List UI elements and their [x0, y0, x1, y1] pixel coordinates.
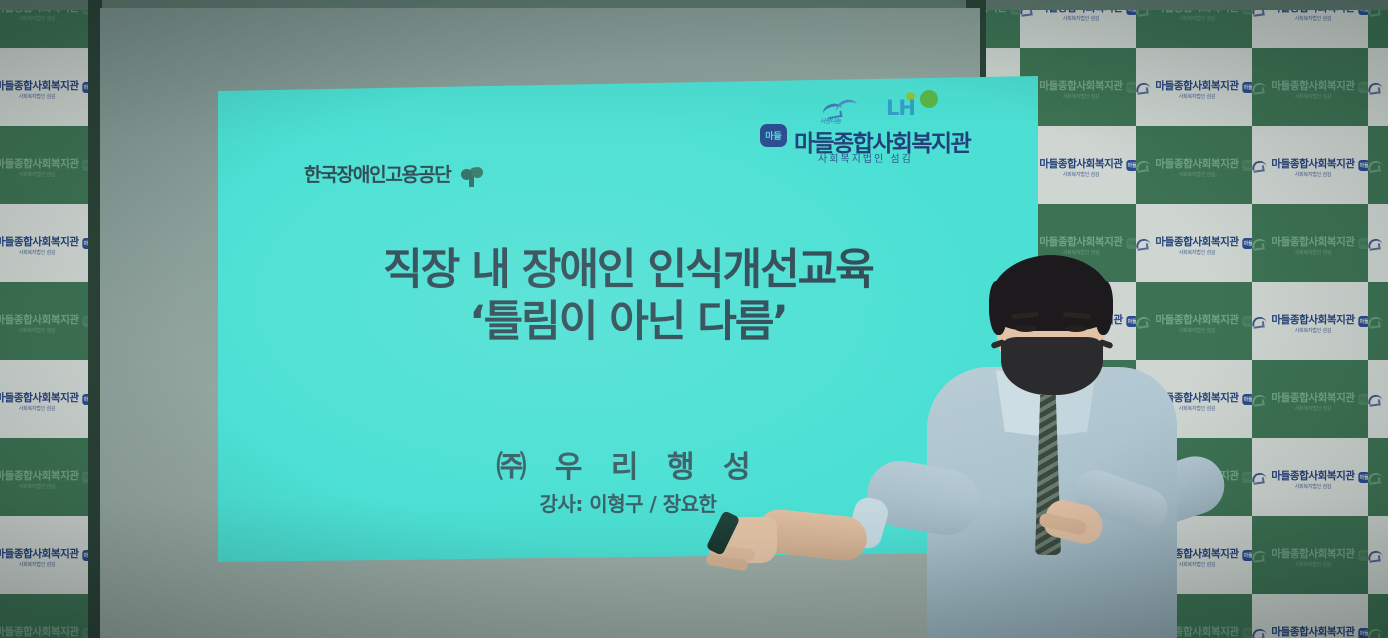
backdrop-tile-logo: 마들종합사회복지관사회복지법인 섬김마들: [1252, 542, 1368, 568]
backdrop-tile-seal: 마들: [1243, 550, 1252, 561]
eye-left: [1015, 325, 1037, 332]
backdrop-tile-sub: 사회복지법인 섬김: [1039, 173, 1122, 178]
backdrop-tile-name: 마들종합사회복지관: [1271, 314, 1354, 326]
backdrop-tile-logo: 마들종합사회복지관사회복지법인 섬김마들: [1252, 152, 1368, 178]
backdrop-tile-logo: 마들종합사회복지관사회복지법인 섬김마들: [1252, 74, 1368, 100]
presenter: [905, 255, 1235, 638]
backdrop-tile: 마들종합사회복지관사회복지법인 섬김마들: [0, 438, 92, 516]
backdrop-tile-logo: 마들종합사회복지관사회복지법인 섬김마들: [1252, 386, 1368, 412]
backdrop-tile-logo: 마들종합사회복지관사회복지법인 섬김마들: [1368, 542, 1388, 568]
backdrop-tile-seal: 마들: [1359, 550, 1368, 561]
backdrop-tile-sub: 사회복지법인 섬김: [1039, 17, 1122, 22]
backdrop-tile-logo: 마들종합사회복지관사회복지법인 섬김마들: [1368, 230, 1388, 256]
backdrop-tile: 마들종합사회복지관사회복지법인 섬김마들: [1368, 204, 1388, 282]
backdrop-tile-logo: 마들종합사회복지관사회복지법인 섬김마들: [1252, 464, 1368, 490]
backdrop-tile-name: 마들종합사회복지관: [1271, 626, 1354, 638]
backdrop-tile-sub: 사회복지법인 섬김: [1155, 173, 1238, 178]
backdrop-tile-logo: 마들종합사회복지관사회복지법인 섬김마들: [1136, 152, 1252, 178]
backdrop-tile-name: 마들종합사회복지관: [0, 548, 79, 560]
backdrop-tile-sub: 사회복지법인 섬김: [1039, 95, 1122, 100]
backdrop-tile-sub: 사회복지법인 섬김: [1271, 17, 1354, 22]
backdrop-tile-name: 마들종합사회복지관: [1155, 80, 1238, 92]
backdrop-tile-sub: 사회복지법인 섬김: [0, 563, 79, 568]
backdrop-tile-sub: 사회복지법인 섬김: [1271, 173, 1354, 178]
backdrop-tile: 마들종합사회복지관사회복지법인 섬김마들: [1252, 126, 1368, 204]
backdrop-tile-name: 마들종합사회복지관: [1271, 158, 1354, 170]
sarang-nanum-icon: 사랑나눔: [818, 96, 866, 122]
backdrop-tile-seal: 마들: [1243, 628, 1252, 638]
backdrop-tile-logo: 마들종합사회복지관사회복지법인 섬김마들: [0, 386, 92, 412]
backdrop-tile-name: 마들종합사회복지관: [0, 80, 79, 92]
backdrop-tile-seal: 마들: [1243, 238, 1252, 249]
backdrop-tile-sub: 사회복지법인 섬김: [0, 17, 79, 22]
backdrop-tile-name: 마들종합사회복지관: [1155, 158, 1238, 170]
madeul-emblem-icon: [1136, 237, 1151, 250]
lh-logo-label: LH: [886, 96, 915, 120]
madeul-emblem-icon: [1368, 549, 1383, 562]
backdrop-tile-sub: 사회복지법인 섬김: [1155, 95, 1238, 100]
backdrop-tile-sub: 사회복지법인 섬김: [0, 173, 79, 178]
backdrop-tile: 마들종합사회복지관사회복지법인 섬김마들: [0, 204, 92, 282]
backdrop-tile: 마들종합사회복지관사회복지법인 섬김마들: [1368, 594, 1388, 638]
backdrop-tile-sub: 사회복지법인 섬김: [0, 407, 79, 412]
madeul-emblem-icon: [1252, 81, 1267, 94]
backdrop-tile-seal: 마들: [1127, 238, 1136, 249]
madeul-emblem-icon: [1368, 237, 1383, 250]
backdrop-tile: 마들종합사회복지관사회복지법인 섬김마들: [1252, 48, 1368, 126]
backdrop-tile-seal: 마들: [1127, 82, 1136, 93]
backdrop-tile-sub: 사회복지법인 섬김: [0, 251, 79, 256]
madeul-emblem-icon: [1368, 393, 1383, 406]
backdrop-tile-seal: 마들: [1127, 160, 1136, 171]
backdrop-tile-logo: 마들종합사회복지관사회복지법인 섬김마들: [1368, 620, 1388, 638]
backdrop-tile-logo: 마들종합사회복지관사회복지법인 섬김마들: [0, 74, 92, 100]
backdrop-tile: 마들종합사회복지관사회복지법인 섬김마들: [1252, 438, 1368, 516]
madeul-emblem-icon: [1252, 549, 1267, 562]
backdrop-tile: 마들종합사회복지관사회복지법인 섬김마들: [1368, 516, 1388, 594]
backdrop-tile-logo: 마들종합사회복지관사회복지법인 섬김마들: [0, 620, 92, 638]
backdrop-tile-logo: 마들종합사회복지관사회복지법인 섬김마들: [1136, 230, 1252, 256]
backdrop-tile: 마들종합사회복지관사회복지법인 섬김마들: [1136, 126, 1252, 204]
backdrop-tile-sub: 사회복지법인 섬김: [1271, 329, 1354, 334]
backdrop-tile-logo: 마들종합사회복지관사회복지법인 섬김마들: [1368, 386, 1388, 412]
backdrop-tile: 마들종합사회복지관사회복지법인 섬김마들: [0, 516, 92, 594]
madeul-org-subtitle: 사회복지법인 섬김: [818, 150, 913, 165]
madeul-emblem-icon: [1252, 393, 1267, 406]
madeul-emblem-icon: [1368, 315, 1383, 328]
madeul-emblem-icon: [1252, 237, 1267, 250]
backdrop-tile-name: 마들종합사회복지관: [1039, 236, 1122, 248]
madeul-emblem-icon: [1136, 81, 1151, 94]
backdrop-tile-name: 마들종합사회복지관: [1155, 236, 1238, 248]
backdrop-tile: 마들종합사회복지관사회복지법인 섬김마들: [1136, 48, 1252, 126]
madeul-emblem-icon: [1368, 81, 1383, 94]
backdrop-tile-logo: 마들종합사회복지관사회복지법인 섬김마들: [0, 230, 92, 256]
backdrop-tile-sub: 사회복지법인 섬김: [0, 329, 79, 334]
backdrop-tile-seal: 마들: [1243, 316, 1252, 327]
backdrop-tile-name: 마들종합사회복지관: [1271, 392, 1354, 404]
backdrop-tile: 마들종합사회복지관사회복지법인 섬김마들: [1252, 204, 1368, 282]
backdrop-tile-seal: 마들: [1243, 394, 1252, 405]
madeul-logo-cluster: 사랑나눔 LH 마들 마들종합사회복지관 사회복지법인 섬김: [758, 90, 1008, 168]
backdrop-tile-seal: 마들: [1359, 316, 1368, 327]
backdrop-tile: 마들종합사회복지관사회복지법인 섬김마들: [0, 360, 92, 438]
backdrop-tile-name: 마들종합사회복지관: [0, 626, 79, 638]
backdrop-tile-seal: 마들: [1359, 628, 1368, 638]
backdrop-tile-seal: 마들: [1359, 472, 1368, 483]
backdrop-tile-seal: 마들: [1359, 82, 1368, 93]
backdrop-tile-sub: 사회복지법인 섬김: [1271, 251, 1354, 256]
backdrop-tile-name: 마들종합사회복지관: [0, 470, 79, 482]
backdrop-tile: 마들종합사회복지관사회복지법인 섬김마들: [1368, 126, 1388, 204]
madeul-emblem-icon: [1252, 159, 1267, 172]
backdrop-tile-name: 마들종합사회복지관: [1271, 80, 1354, 92]
madeul-emblem-icon: 마들: [760, 124, 787, 147]
eye-right: [1065, 325, 1087, 332]
kead-logo-label: 한국장애인고용공단: [304, 160, 451, 187]
backdrop-tile: 마들종합사회복지관사회복지법인 섬김마들: [0, 48, 92, 126]
backdrop-tile-seal: 마들: [1243, 160, 1252, 171]
backdrop-tile: 마들종합사회복지관사회복지법인 섬김마들: [1368, 48, 1388, 126]
backdrop-tile: 마들종합사회복지관사회복지법인 섬김마들: [1252, 516, 1368, 594]
backdrop-tile-logo: 마들종합사회복지관사회복지법인 섬김마들: [1252, 620, 1368, 638]
backdrop-tile-seal: 마들: [1243, 472, 1252, 483]
backdrop-tile: 마들종합사회복지관사회복지법인 섬김마들: [1368, 438, 1388, 516]
presenter-hair-right: [1095, 281, 1113, 335]
madeul-emblem-icon: [1252, 315, 1267, 328]
madeul-emblem-icon: [1368, 627, 1383, 638]
backdrop-tile-seal: 마들: [1359, 394, 1368, 405]
kead-emblem-icon: [459, 161, 487, 187]
backdrop-tile-logo: 마들종합사회복지관사회복지법인 섬김마들: [0, 464, 92, 490]
backdrop-tile-logo: 마들종합사회복지관사회복지법인 섬김마들: [1252, 230, 1368, 256]
backdrop-tile-name: 마들종합사회복지관: [1039, 80, 1122, 92]
backdrop-tile-name: 마들종합사회복지관: [1039, 158, 1122, 170]
backdrop-tile: 마들종합사회복지관사회복지법인 섬김마들: [1368, 360, 1388, 438]
backdrop-tile: 마들종합사회복지관사회복지법인 섬김마들: [1368, 282, 1388, 360]
backdrop-tile-sub: 사회복지법인 섬김: [0, 485, 79, 490]
backdrop-tile-sub: 사회복지법인 섬김: [1271, 407, 1354, 412]
presenter-hair-left: [989, 281, 1007, 335]
madeul-emblem-icon: [1252, 471, 1267, 484]
madeul-emblem-icon: [1368, 471, 1383, 484]
backdrop-tile-logo: 마들종합사회복지관사회복지법인 섬김마들: [0, 152, 92, 178]
madeul-emblem-icon: [1252, 627, 1267, 638]
backdrop-tile-sub: 사회복지법인 섬김: [0, 95, 79, 100]
madeul-emblem-icon: [1136, 159, 1151, 172]
backdrop-tile: 마들종합사회복지관사회복지법인 섬김마들: [0, 282, 92, 360]
backdrop-tile-sub: 사회복지법인 섬김: [1155, 17, 1238, 22]
madeul-emblem-icon: [1368, 159, 1383, 172]
backdrop-tile-sub: 사회복지법인 섬김: [1271, 95, 1354, 100]
backdrop-tile-sub: 사회복지법인 섬김: [1271, 563, 1354, 568]
backdrop-tile: 마들종합사회복지관사회복지법인 섬김마들: [1252, 282, 1368, 360]
backdrop-tile: 마들종합사회복지관사회복지법인 섬김마들: [1252, 594, 1368, 638]
backdrop-tile-logo: 마들종합사회복지관사회복지법인 섬김마들: [0, 542, 92, 568]
backdrop-tile-seal: 마들: [1359, 160, 1368, 171]
backdrop-tile: 마들종합사회복지관사회복지법인 섬김마들: [1252, 360, 1368, 438]
backdrop-tile-name: 마들종합사회복지관: [0, 236, 79, 248]
backdrop-tile-seal: 마들: [1243, 82, 1252, 93]
lh-dot-large-icon: [920, 90, 938, 108]
backdrop-tile-logo: 마들종합사회복지관사회복지법인 섬김마들: [1368, 464, 1388, 490]
backdrop-tile: 마들종합사회복지관사회복지법인 섬김마들: [0, 126, 92, 204]
backdrop-tile-name: 마들종합사회복지관: [0, 314, 79, 326]
backdrop-tile-logo: 마들종합사회복지관사회복지법인 섬김마들: [0, 308, 92, 334]
backdrop-tile: 마들종합사회복지관사회복지법인 섬김마들: [0, 594, 92, 638]
backdrop-tile-seal: 마들: [1359, 238, 1368, 249]
backdrop-tile-name: 마들종합사회복지관: [0, 392, 79, 404]
backdrop-tile-name: 마들종합사회복지관: [0, 158, 79, 170]
backdrop-tile-name: 마들종합사회복지관: [1271, 470, 1354, 482]
backdrop-tile-logo: 마들종합사회복지관사회복지법인 섬김마들: [1252, 308, 1368, 334]
kead-logo: 한국장애인고용공단: [304, 160, 487, 187]
backdrop-tile-name: 마들종합사회복지관: [1271, 236, 1354, 248]
backdrop-tile-logo: 마들종합사회복지관사회복지법인 섬김마들: [1368, 74, 1388, 100]
backdrop-tile-logo: 마들종합사회복지관사회복지법인 섬김마들: [1368, 152, 1388, 178]
backdrop-tile-logo: 마들종합사회복지관사회복지법인 섬김마들: [1368, 308, 1388, 334]
photo-scene: 마들종합사회복지관사회복지법인 섬김마들마들종합사회복지관사회복지법인 섬김마들…: [0, 0, 1388, 638]
backdrop-tile-name: 마들종합사회복지관: [1271, 548, 1354, 560]
backdrop-tile-sub: 사회복지법인 섬김: [1271, 485, 1354, 490]
backdrop-tile-logo: 마들종합사회복지관사회복지법인 섬김마들: [1136, 74, 1252, 100]
